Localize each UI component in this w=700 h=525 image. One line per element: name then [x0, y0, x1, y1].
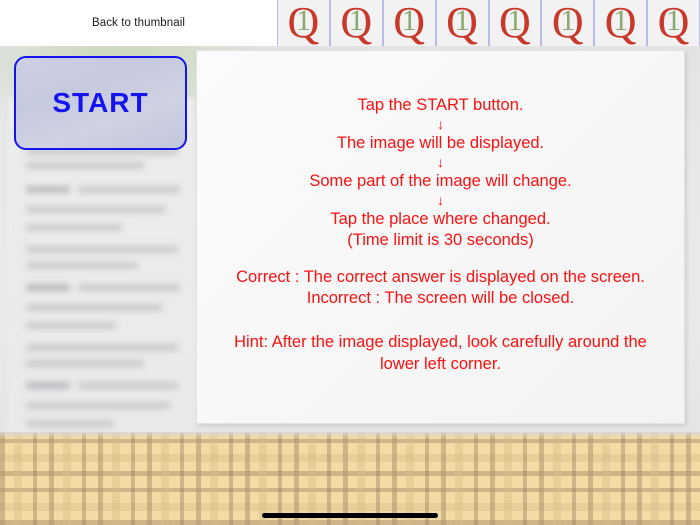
thumbnail-number: 1: [331, 6, 382, 36]
thumbnail-number: 1: [278, 6, 329, 36]
instruction-hint: Hint: After the image displayed, look ca…: [226, 331, 656, 375]
plaid-top-fade: [0, 432, 700, 438]
instruction-correct-result: Correct : The correct answer is displaye…: [236, 267, 645, 288]
arrow-down-icon: ↓: [437, 154, 444, 171]
thumbnail-item-1[interactable]: Q 1: [277, 0, 330, 46]
thumbnail-number: 1: [490, 6, 541, 36]
top-header-bar: Back to thumbnail Q 1 Q 1 Q 1 Q 1 Q 1 Q …: [0, 0, 700, 46]
start-button[interactable]: START: [14, 56, 187, 150]
arrow-down-icon: ↓: [437, 116, 444, 133]
start-button-label: START: [52, 87, 148, 119]
instruction-step-2: The image will be displayed.: [337, 133, 544, 154]
back-to-thumbnail-label: Back to thumbnail: [92, 17, 185, 29]
instruction-step-3: Some part of the image will change.: [309, 171, 571, 192]
plaid-texture-footer: [0, 432, 700, 525]
blurred-text-lines: [18, 106, 193, 432]
thumbnail-strip[interactable]: Q 1 Q 1 Q 1 Q 1 Q 1 Q 1 Q 1 Q 1: [277, 0, 700, 46]
back-to-thumbnail-button[interactable]: Back to thumbnail: [0, 0, 277, 46]
thumbnail-item-6[interactable]: Q 1: [541, 0, 594, 46]
thumbnail-item-2[interactable]: Q 1: [330, 0, 383, 46]
thumbnail-item-8[interactable]: Q 1: [647, 0, 700, 46]
thumbnail-item-3[interactable]: Q 1: [383, 0, 436, 46]
instruction-panel: Tap the START button. ↓ The image will b…: [196, 50, 685, 424]
instruction-incorrect-result: Incorrect : The screen will be closed.: [307, 288, 574, 309]
instruction-time-limit: (Time limit is 30 seconds): [347, 230, 533, 251]
home-indicator-bar[interactable]: [262, 513, 438, 518]
thumbnail-item-4[interactable]: Q 1: [436, 0, 489, 46]
arrow-down-icon: ↓: [437, 192, 444, 209]
thumbnail-item-7[interactable]: Q 1: [594, 0, 647, 46]
instruction-step-1: Tap the START button.: [357, 95, 523, 116]
thumbnail-number: 1: [384, 6, 435, 36]
instruction-step-4: Tap the place where changed.: [330, 209, 550, 230]
thumbnail-item-5[interactable]: Q 1: [489, 0, 542, 46]
thumbnail-number: 1: [437, 6, 488, 36]
thumbnail-number: 1: [648, 6, 699, 36]
quiz-stage: START Tap the START button. ↓ The image …: [0, 46, 700, 432]
thumbnail-number: 1: [542, 6, 593, 36]
thumbnail-number: 1: [595, 6, 646, 36]
